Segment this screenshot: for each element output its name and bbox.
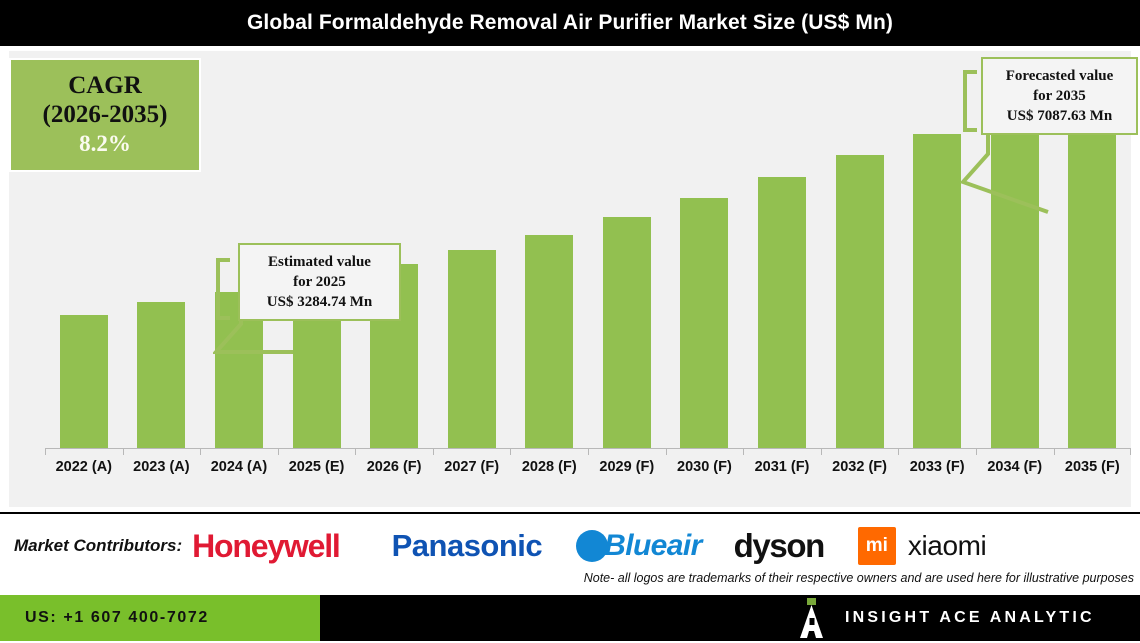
bar-2031[interactable] (758, 177, 806, 448)
x-label-2025: 2025 (E) (278, 456, 356, 484)
market-contributors-label: Market Contributors: (14, 536, 182, 556)
callout-line-3: US$ 3284.74 Mn (267, 292, 372, 312)
x-tick (510, 448, 588, 455)
bar-slot (433, 51, 511, 448)
contributor-logo-row: Market Contributors: Honeywell Panasonic… (0, 520, 1140, 572)
bar-slot (743, 51, 821, 448)
bar-slot (588, 51, 666, 448)
bar-2027[interactable] (448, 250, 496, 448)
x-label-2023: 2023 (A) (123, 456, 201, 484)
x-tick (666, 448, 744, 455)
dyson-logo: dyson (734, 527, 824, 565)
x-label-2022: 2022 (A) (45, 456, 123, 484)
x-label-2032: 2032 (F) (821, 456, 899, 484)
x-tick (898, 448, 976, 455)
x-axis-labels: 2022 (A)2023 (A)2024 (A)2025 (E)2026 (F)… (45, 456, 1131, 484)
bar-2032[interactable] (836, 155, 884, 448)
callout-line-2: for 2025 (293, 272, 346, 292)
callout-estimated-2025: Estimated value for 2025 US$ 3284.74 Mn (238, 243, 401, 321)
phone-band: US: +1 607 400-7072 (0, 595, 320, 641)
x-label-2026: 2026 (F) (355, 456, 433, 484)
x-tick (433, 448, 511, 455)
title-bar: Global Formaldehyde Removal Air Purifier… (0, 0, 1140, 46)
x-label-2033: 2033 (F) (898, 456, 976, 484)
xiaomi-logo-text: xiaomi (908, 530, 987, 562)
callout-line-3: US$ 7087.63 Mn (1007, 106, 1112, 126)
cagr-value: 8.2% (79, 130, 131, 158)
xiaomi-logo: mi xiaomi (858, 527, 987, 565)
bar-2028[interactable] (525, 235, 573, 448)
x-axis-ticks (45, 448, 1131, 455)
x-label-2035: 2035 (F) (1054, 456, 1132, 484)
page-title: Global Formaldehyde Removal Air Purifier… (247, 11, 893, 35)
x-tick (355, 448, 433, 455)
x-label-2034: 2034 (F) (976, 456, 1054, 484)
blueair-logo-text: Blueair (604, 529, 702, 563)
blueair-logo: Blueair (576, 529, 702, 563)
x-tick (1054, 448, 1132, 455)
callout-forecasted-2035: Forecasted value for 2035 US$ 7087.63 Mn (981, 57, 1138, 135)
bar-2029[interactable] (603, 217, 651, 448)
bar-slot (510, 51, 588, 448)
x-tick (743, 448, 821, 455)
cagr-title: CAGR (68, 72, 142, 100)
contributors-strip: Market Contributors: Honeywell Panasonic… (0, 512, 1140, 595)
x-label-2028: 2028 (F) (510, 456, 588, 484)
estimated-2025-bracket (216, 258, 232, 320)
x-label-2031: 2031 (F) (743, 456, 821, 484)
x-label-2030: 2030 (F) (666, 456, 744, 484)
x-tick (123, 448, 201, 455)
cagr-period: (2026-2035) (43, 100, 168, 130)
bar-2023[interactable] (137, 302, 185, 448)
trademark-note: Note- all logos are trademarks of their … (584, 571, 1134, 585)
brand-name-text: INSIGHT ACE ANALYTIC (845, 609, 1095, 627)
callout-line-2: for 2035 (1033, 86, 1086, 106)
callout-line-1: Estimated value (268, 252, 371, 272)
x-label-2024: 2024 (A) (200, 456, 278, 484)
x-tick (278, 448, 356, 455)
insight-ace-a-logo-icon (795, 598, 829, 638)
x-label-2027: 2027 (F) (433, 456, 511, 484)
x-tick (588, 448, 666, 455)
x-tick (45, 448, 123, 455)
footer-bar: US: +1 607 400-7072 INSIGHT ACE ANALYTIC (0, 595, 1140, 641)
bar-slot (666, 51, 744, 448)
bar-2033[interactable] (913, 134, 961, 448)
xiaomi-mi-mark-icon: mi (858, 527, 896, 565)
x-tick (200, 448, 278, 455)
honeywell-logo: Honeywell (192, 528, 339, 565)
x-tick (976, 448, 1054, 455)
x-tick (821, 448, 899, 455)
footer-phone-number[interactable]: US: +1 607 400-7072 (25, 609, 209, 627)
bar-slot (821, 51, 899, 448)
cagr-badge: CAGR (2026-2035) 8.2% (9, 58, 201, 172)
callout-line-1: Forecasted value (1006, 66, 1114, 86)
panasonic-logo: Panasonic (392, 528, 543, 564)
bar-2030[interactable] (680, 198, 728, 448)
bar-2022[interactable] (60, 315, 108, 448)
x-label-2029: 2029 (F) (588, 456, 666, 484)
brand-lockup: INSIGHT ACE ANALYTIC (795, 595, 1095, 641)
forecasted-2035-bracket (963, 70, 979, 132)
